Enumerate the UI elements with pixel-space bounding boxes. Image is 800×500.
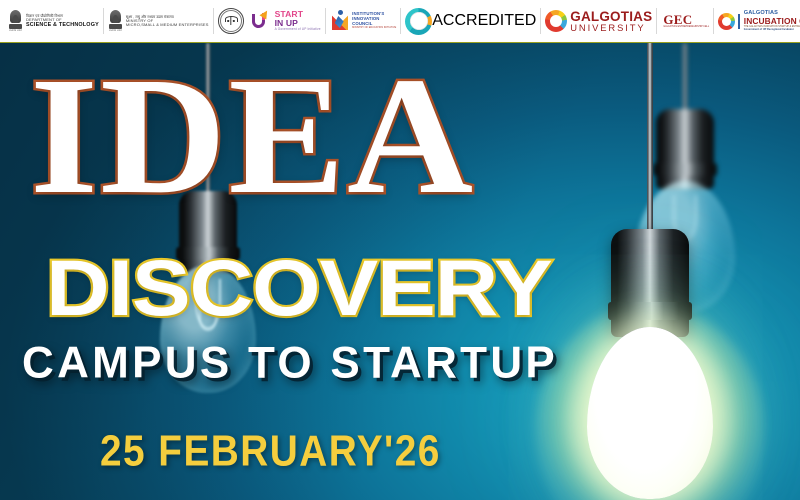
page-title: IDEA <box>30 59 475 214</box>
bulb-cord <box>647 43 653 231</box>
national-emblem-icon: सत्यमेव जयते <box>8 6 23 36</box>
logo-institutions-innovation-council: INSTITUTION'S INNOVATION COUNCIL MINISTR… <box>326 4 401 38</box>
logo-gec: GEC GALGOTIAS ENTREPRENEURSHIP CELL <box>657 4 713 38</box>
logo-uttar-pradesh-government-seal <box>214 4 248 38</box>
accreditation-badge-icon <box>405 8 432 35</box>
logo-ministry-of-msme: सत्यमेव जयते सूक्ष्म , लघु और मध्यम उद्य… <box>104 4 213 38</box>
page-tagline: CAMPUS TO STARTUP <box>22 341 558 386</box>
gic-subtitle-2: Government of UP Recognized Incubator <box>744 29 800 32</box>
gic-line-2: INCUBATION CENTRE <box>744 17 800 26</box>
gec-subtitle: GALGOTIAS ENTREPRENEURSHIP CELL <box>663 26 709 28</box>
galgotias-swirl-icon <box>718 13 735 30</box>
emblem-motto-text: सत्यमेव जयते <box>9 30 22 32</box>
logo-naac-accreditation-badge: ACCREDITED <box>401 4 540 38</box>
logo-start-in-up: START IN UP A Government of UP Initiativ… <box>248 4 325 38</box>
page-subtitle: DISCOVERY <box>46 249 552 328</box>
hanging-bulb-front-glowing <box>560 43 740 500</box>
bulb-socket <box>611 229 689 337</box>
accreditation-badge-text: ACCREDITED <box>432 12 536 30</box>
iic-running-figure-icon <box>330 10 350 32</box>
logo-department-of-science-and-technology: सत्यमेव जयते विज्ञान एवं प्रौद्योगिकी वि… <box>4 4 103 38</box>
event-poster: सत्यमेव जयते विज्ञान एवं प्रौद्योगिकी वि… <box>0 0 800 500</box>
galgotias-university-subname: UNIVERSITY <box>570 23 652 32</box>
up-government-seal-icon <box>218 8 244 34</box>
start-in-up-mark-icon <box>252 11 273 32</box>
logo-galgotias-incubation-centre: GALGOTIAS INCUBATION CENTRE THE GALGOTIA… <box>714 4 800 38</box>
logo-accent-bar <box>738 14 740 29</box>
galgotias-swirl-icon <box>545 10 567 32</box>
emblem-motto-text: सत्यमेव जयते <box>109 30 122 32</box>
logo-galgotias-university: GALGOTIAS UNIVERSITY <box>541 4 656 38</box>
dst-name-line: SCIENCE & TECHNOLOGY <box>26 22 99 28</box>
iic-subtitle: MINISTRY OF EDUCATION INITIATIVE <box>352 27 396 30</box>
event-date: 25 FEBRUARY'26 <box>100 429 441 473</box>
sponsor-logo-bar: सत्यमेव जयते विज्ञान एवं प्रौद्योगिकी वि… <box>0 0 800 43</box>
gec-name: GEC <box>663 13 709 26</box>
national-emblem-icon: सत्यमेव जयते <box>108 6 123 36</box>
msme-name-line: MICRO,SMALL & MEDIUM ENTERPRISES <box>126 23 209 27</box>
poster-artwork-stage: IDEA DISCOVERY CAMPUS TO STARTUP 25 FEBR… <box>0 43 800 500</box>
start-in-up-tagline: A Government of UP Initiative <box>275 28 321 31</box>
